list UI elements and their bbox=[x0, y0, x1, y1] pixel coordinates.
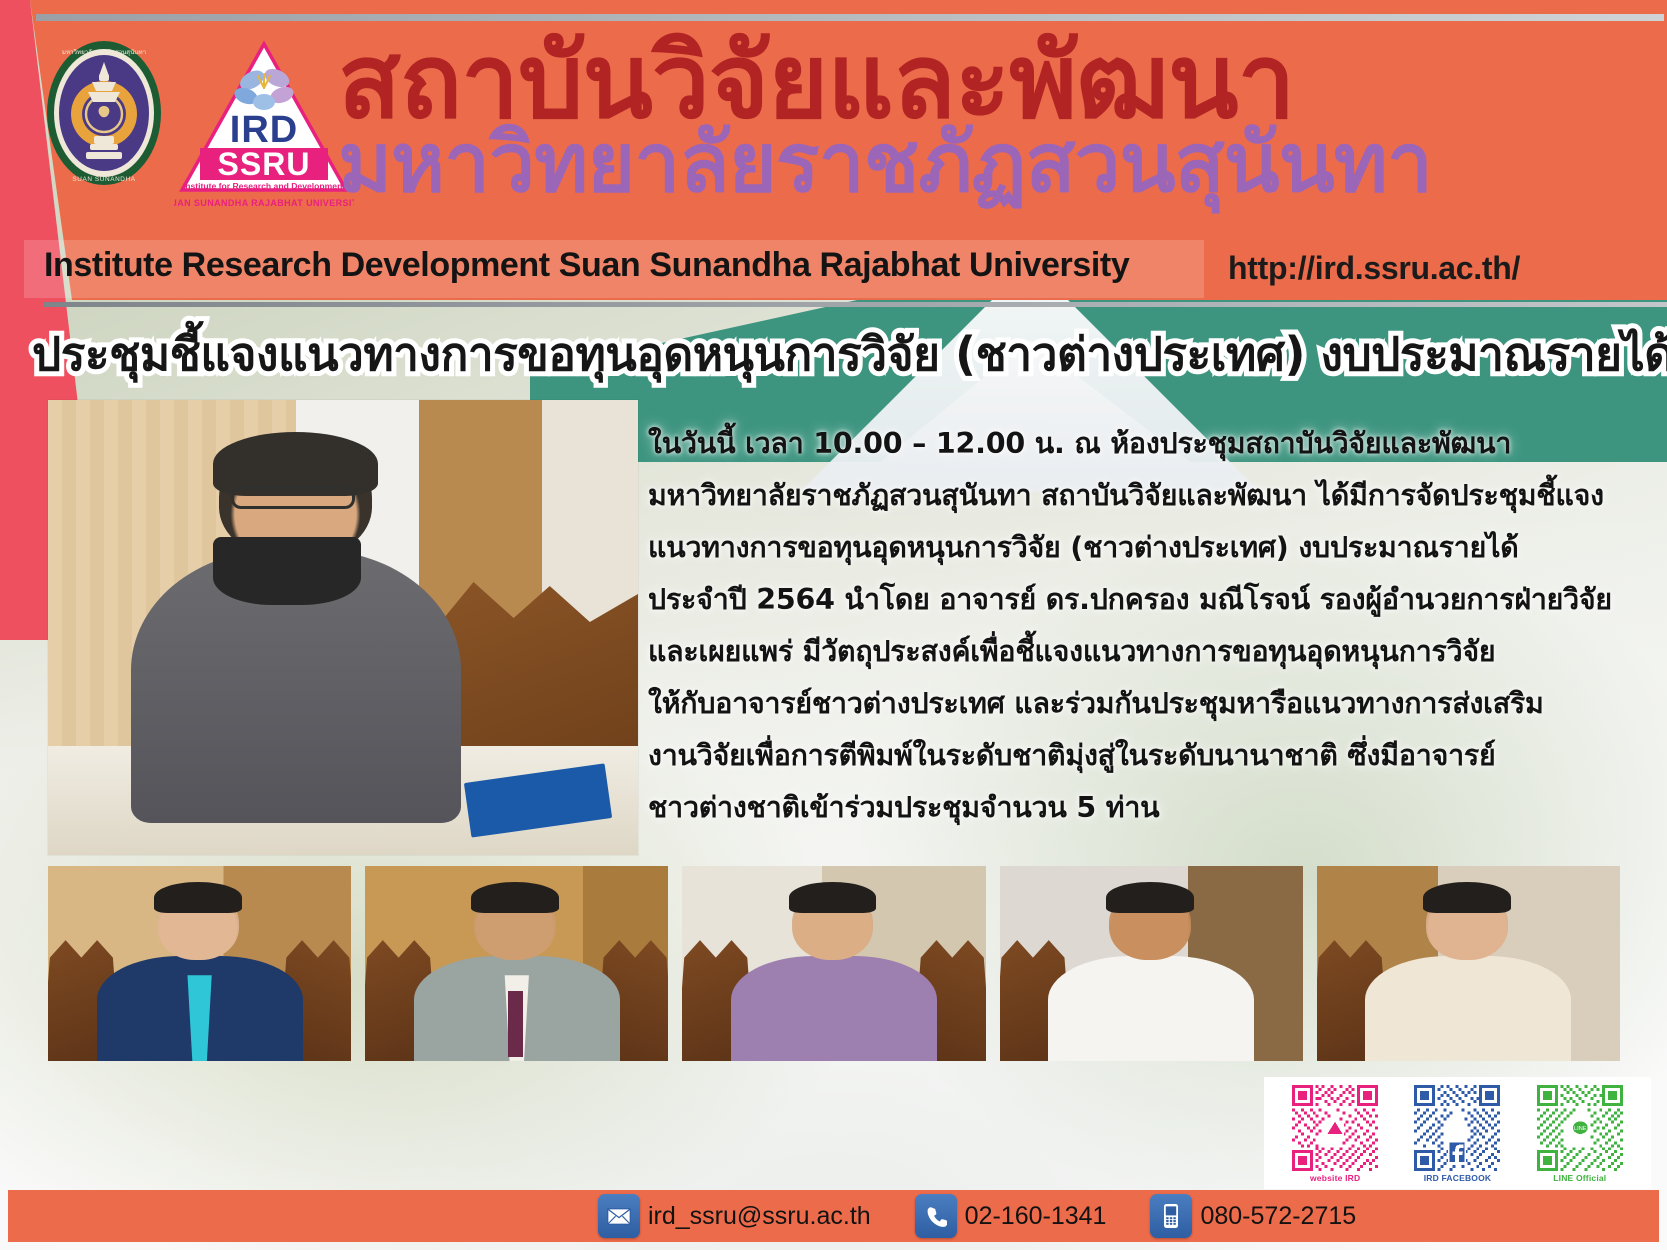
shot-hair bbox=[1423, 882, 1511, 913]
svg-text:Institute for Research and Dev: Institute for Research and Development bbox=[183, 181, 346, 191]
body-line: งานวิจัยเพื่อการตีพิมพ์ในระดับชาติมุ่งสู… bbox=[648, 730, 1648, 782]
body-line: ประจำปี 2564 นำโดย อาจารย์ ดร.ปกครอง มณี… bbox=[648, 574, 1648, 626]
shot-torso bbox=[1365, 956, 1571, 1061]
svg-text:LINE: LINE bbox=[1574, 1126, 1587, 1132]
contact-mobile[interactable]: 080-572-2715 bbox=[1150, 1194, 1356, 1238]
subtitle-english: Institute Research Development Suan Suna… bbox=[44, 246, 1129, 285]
body-line: และเผยแพร่ มีวัตถุประสงค์เพื่อชี้แจงแนวท… bbox=[648, 626, 1648, 678]
participant-photo bbox=[1000, 866, 1303, 1061]
svg-text:IRD: IRD bbox=[230, 109, 298, 151]
mobile-phone-icon bbox=[1150, 1194, 1192, 1238]
contact-phone[interactable]: 02-160-1341 bbox=[915, 1194, 1107, 1238]
shot-hair bbox=[789, 882, 877, 913]
shot-hair bbox=[471, 882, 559, 913]
header-website-url[interactable]: http://ird.ssru.ac.th/ bbox=[1228, 250, 1520, 287]
body-line: ในวันนี้ เวลา 10.00 – 12.00 น. ณ ห้องประ… bbox=[648, 418, 1648, 470]
contact-email-text: ird_ssru@ssru.ac.th bbox=[648, 1202, 871, 1231]
shot-necktie bbox=[508, 991, 523, 1057]
header-title-thai: สถาบันวิจัยและพัฒนา มหาวิทยาลัยราชภัฏสวน… bbox=[338, 34, 1658, 202]
qr-line-official[interactable]: LINE LINE Official bbox=[1537, 1085, 1623, 1183]
header-bottom-rule bbox=[44, 302, 1667, 307]
svg-text:SUAN SUNANDHA: SUAN SUNANDHA bbox=[72, 176, 135, 183]
participant-photo bbox=[365, 866, 668, 1061]
header-title-line2: มหาวิทยาลัยราชภัฏสวนสุนันทา bbox=[338, 125, 1658, 202]
photo-person-mask bbox=[213, 537, 361, 605]
body-line: ให้กับอาจารย์ชาวต่างประเทศ และร่วมกันประ… bbox=[648, 678, 1648, 730]
participant-photo-strip bbox=[48, 866, 1620, 1061]
header-top-rule bbox=[36, 14, 1664, 21]
qr-line-official-icon[interactable]: LINE bbox=[1537, 1085, 1623, 1171]
qr-code-panel: website IRD bbox=[1264, 1077, 1651, 1189]
main-meeting-photo bbox=[48, 400, 638, 855]
telephone-icon bbox=[915, 1194, 957, 1238]
footer-contact-row: ird_ssru@ssru.ac.th 02-160-1341 bbox=[598, 1192, 1356, 1240]
contact-mobile-text: 080-572-2715 bbox=[1200, 1202, 1356, 1231]
qr-ird-facebook-icon[interactable] bbox=[1414, 1085, 1500, 1171]
body-line: แนวทางการขอทุนอุดหนุนการวิจัย (ชาวต่างปร… bbox=[648, 522, 1648, 574]
participant-photo bbox=[48, 866, 351, 1061]
svg-text:SUAN SUNANDHA RAJABHAT UNIVERS: SUAN SUNANDHA RAJABHAT UNIVERSITY bbox=[174, 198, 354, 208]
body-paragraph: ในวันนี้ เวลา 10.00 – 12.00 น. ณ ห้องประ… bbox=[648, 418, 1648, 834]
svg-text:SSRU: SSRU bbox=[218, 146, 311, 182]
participant-photo bbox=[682, 866, 985, 1061]
qr-website-ird-icon[interactable] bbox=[1292, 1085, 1378, 1171]
qr-website-ird-label: website IRD bbox=[1310, 1173, 1360, 1183]
shot-torso bbox=[1048, 956, 1254, 1061]
qr-website-ird[interactable]: website IRD bbox=[1292, 1085, 1378, 1183]
contact-email[interactable]: ird_ssru@ssru.ac.th bbox=[598, 1194, 871, 1238]
logo-row: มหาวิทยาลัยราชภัฏสวนสุนันทา SUAN SUNANDH… bbox=[44, 38, 354, 213]
body-line: ชาวต่างชาติเข้าร่วมประชุมจำนวน 5 ท่าน bbox=[648, 782, 1648, 834]
photo-person-glasses bbox=[231, 486, 355, 509]
poster-canvas: มหาวิทยาลัยราชภัฏสวนสุนันทา SUAN SUNANDH… bbox=[0, 0, 1667, 1250]
qr-ird-facebook[interactable]: IRD FACEBOOK bbox=[1414, 1085, 1500, 1183]
shot-hair bbox=[1106, 882, 1194, 913]
shot-torso bbox=[731, 956, 937, 1061]
envelope-icon bbox=[598, 1194, 640, 1238]
shot-hair bbox=[154, 882, 242, 913]
ird-ssru-logo-icon: IRD SSRU Institute for Research and Deve… bbox=[174, 38, 354, 213]
contact-phone-text: 02-160-1341 bbox=[965, 1202, 1107, 1231]
ssru-university-seal-icon: มหาวิทยาลัยราชภัฏสวนสุนันทา SUAN SUNANDH… bbox=[44, 38, 164, 188]
body-line: มหาวิทยาลัยราชภัฏสวนสุนันทา สถาบันวิจัยแ… bbox=[648, 470, 1648, 522]
page-headline: ประชุมชี้แจงแนวทางการขอทุนอุดหนุนการวิจั… bbox=[32, 318, 1632, 391]
qr-ird-facebook-label: IRD FACEBOOK bbox=[1424, 1173, 1492, 1183]
svg-text:มหาวิทยาลัยราชภัฏสวนสุนันทา: มหาวิทยาลัยราชภัฏสวนสุนันทา bbox=[62, 49, 146, 56]
qr-line-official-label: LINE Official bbox=[1553, 1173, 1606, 1183]
participant-photo bbox=[1317, 866, 1620, 1061]
